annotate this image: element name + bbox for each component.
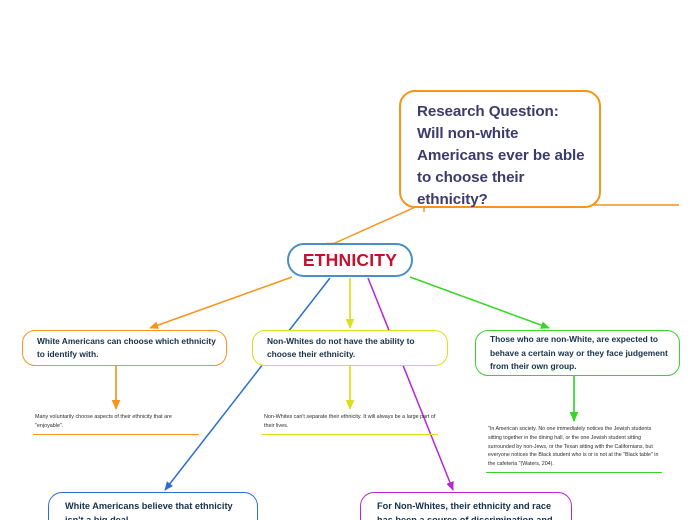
central-topic-label: ETHNICITY <box>289 250 411 271</box>
connector-central-to-bottom-left <box>165 278 330 490</box>
note-middle[interactable]: Non-Whites can't separate their ethnicit… <box>262 413 438 435</box>
mindmap-canvas: Research Question: Will non-white Americ… <box>0 0 696 520</box>
connector-central-to-branch-right <box>410 277 549 328</box>
central-topic-node[interactable]: ETHNICITY <box>287 243 413 277</box>
branch-label-left: White Americans can choose which ethnici… <box>37 335 216 361</box>
bottom-node-right[interactable]: For Non-Whites, their ethnicity and race… <box>360 492 572 520</box>
bottom-label-left: White Americans believe that ethnicity i… <box>65 500 247 520</box>
bottom-label-right: For Non-Whites, their ethnicity and race… <box>377 500 561 520</box>
connector-central-to-question <box>335 205 679 243</box>
note-text-middle: Non-Whites can't separate their ethnicit… <box>264 413 436 431</box>
connector-central-to-branch-left <box>150 277 292 328</box>
bottom-node-left[interactable]: White Americans believe that ethnicity i… <box>48 492 258 520</box>
research-question-node[interactable]: Research Question: Will non-white Americ… <box>399 90 601 208</box>
note-right[interactable]: "In American society. No one immediately… <box>486 425 662 473</box>
note-text-left: Many voluntarily choose aspects of their… <box>35 413 197 431</box>
branch-label-middle: Non-Whites do not have the ability to ch… <box>267 335 437 361</box>
research-question-text: Research Question: Will non-white Americ… <box>417 101 585 210</box>
note-left[interactable]: Many voluntarily choose aspects of their… <box>33 413 199 435</box>
note-text-right: "In American society. No one immediately… <box>488 425 660 469</box>
branch-node-left[interactable]: White Americans can choose which ethnici… <box>22 330 227 366</box>
branch-node-middle[interactable]: Non-Whites do not have the ability to ch… <box>252 330 448 366</box>
branch-node-right[interactable]: Those who are non-White, are expected to… <box>475 330 680 376</box>
connector-central-to-bottom-right <box>368 278 453 490</box>
branch-label-right: Those who are non-White, are expected to… <box>490 333 669 372</box>
